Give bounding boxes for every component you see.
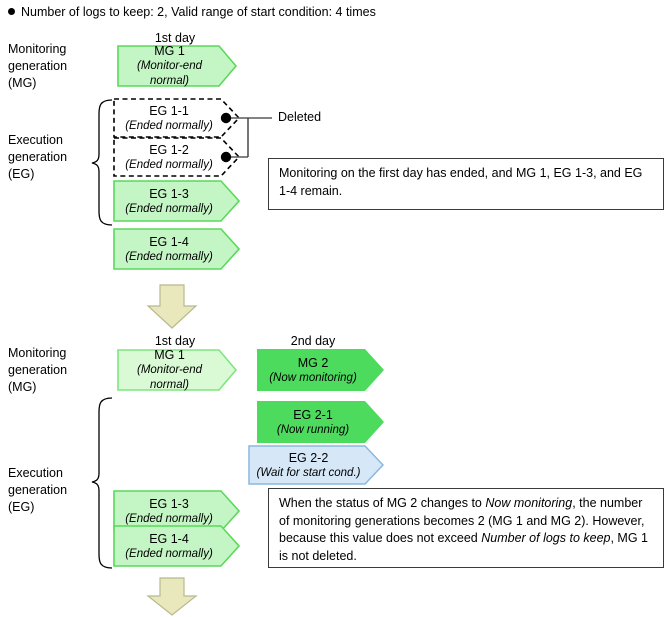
chevron-shape: [113, 228, 240, 270]
section1-eg-row-label: Execution generation (EG): [8, 132, 67, 183]
chevron-shape: [113, 180, 240, 222]
label-line: (EG): [8, 166, 67, 183]
flow-arrow-2: [148, 578, 196, 615]
section2-callout-emphasis-2: Number of logs to keep: [481, 531, 610, 545]
block-mg-2[interactable]: MG 2 (Now monitoring): [257, 349, 384, 391]
section2-day-label-1: 1st day: [120, 334, 230, 349]
block-eg-1-4-second[interactable]: EG 1-4 (Ended normally): [113, 525, 240, 567]
block-eg-1-4[interactable]: EG 1-4 (Ended normally): [113, 228, 240, 270]
label-line: Monitoring: [8, 41, 67, 58]
config-note-text: Number of logs to keep: 2, Valid range o…: [21, 5, 376, 19]
chevron-shape: [113, 525, 240, 567]
chevron-shape: [257, 349, 384, 391]
chevron-shape-dashed: [113, 98, 240, 138]
bullet-icon: [8, 8, 15, 15]
block-mg-1-second[interactable]: MG 1 (Monitor-end normal): [117, 349, 237, 391]
label-line: Execution: [8, 465, 67, 482]
section1-mg-row-label: Monitoring generation (MG): [8, 41, 67, 92]
section2-eg-brace: [92, 398, 112, 568]
diagram-canvas: Number of logs to keep: 2, Valid range o…: [0, 0, 671, 617]
label-line: (MG): [8, 75, 67, 92]
flow-arrow-1: [148, 285, 196, 328]
section2-mg-row-label: Monitoring generation (MG): [8, 345, 67, 396]
deleted-label: Deleted: [278, 110, 321, 125]
block-mg-1[interactable]: MG 1 (Monitor-end normal): [117, 45, 237, 87]
chevron-shape: [257, 401, 384, 443]
block-eg-2-1[interactable]: EG 2-1 (Now running): [257, 401, 384, 443]
section2-day-label-2: 2nd day: [248, 334, 378, 349]
label-line: generation: [8, 482, 67, 499]
label-line: Monitoring: [8, 345, 67, 362]
chevron-shape: [117, 349, 237, 391]
block-eg-1-1[interactable]: EG 1-1 (Ended normally): [113, 98, 240, 138]
label-line: generation: [8, 362, 67, 379]
chevron-shape: [248, 445, 384, 485]
label-line: generation: [8, 58, 67, 75]
block-eg-2-2[interactable]: EG 2-2 (Wait for start cond.): [248, 445, 384, 485]
config-note: Number of logs to keep: 2, Valid range o…: [8, 4, 376, 20]
label-line: (EG): [8, 499, 67, 516]
section2-callout-emphasis-1: Now monitoring: [485, 496, 572, 510]
label-line: (MG): [8, 379, 67, 396]
section2-callout: When the status of MG 2 changes to Now m…: [268, 488, 664, 568]
label-line: generation: [8, 149, 67, 166]
section2-callout-part-1: When the status of MG 2 changes to: [279, 496, 485, 510]
section1-callout-text: Monitoring on the first day has ended, a…: [279, 166, 642, 198]
block-eg-1-3[interactable]: EG 1-3 (Ended normally): [113, 180, 240, 222]
section1-callout: Monitoring on the first day has ended, a…: [268, 158, 664, 210]
section1-eg-brace: [92, 100, 112, 225]
label-line: Execution: [8, 132, 67, 149]
section1-day-label-1: 1st day: [120, 31, 230, 46]
chevron-shape: [117, 45, 237, 87]
section2-eg-row-label: Execution generation (EG): [8, 465, 67, 516]
chevron-shape-dashed: [113, 137, 240, 177]
block-eg-1-2[interactable]: EG 1-2 (Ended normally): [113, 137, 240, 177]
